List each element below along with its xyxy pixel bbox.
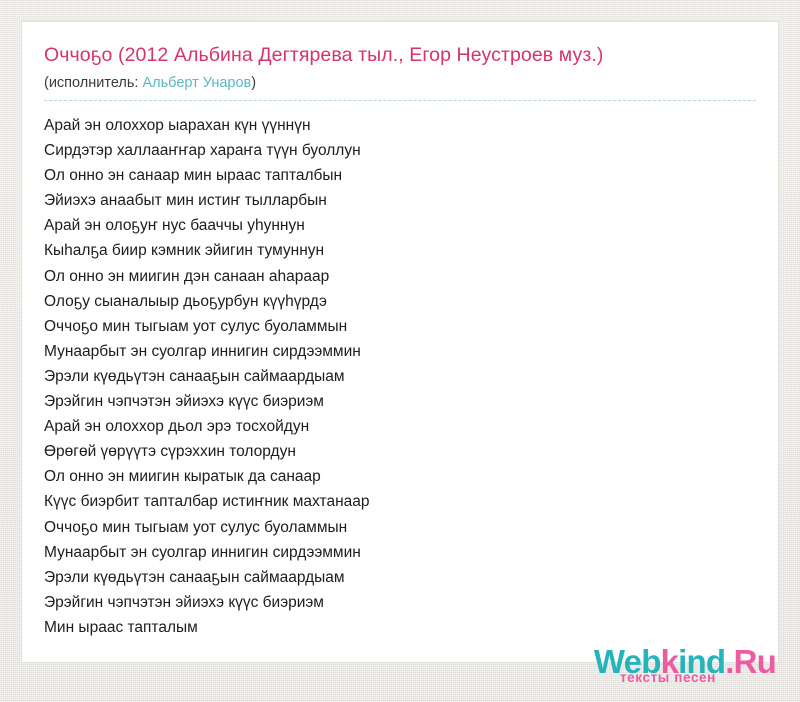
performer-line: (исполнитель: Альберт Унаров) — [44, 73, 756, 93]
lyric-line: Ол онно эн санаар мин ыраас тапталбын — [44, 163, 756, 188]
lyrics-card: Оччоҕо (2012 Альбина Дегтярева тыл., Его… — [22, 22, 778, 662]
lyric-line: Эйиэхэ анаабыт мин истиҥ тылларбын — [44, 188, 756, 213]
lyric-line: Эрэли күөдьүтэн санааҕын саймаардыам — [44, 565, 756, 590]
page-title: Оччоҕо (2012 Альбина Дегтярева тыл., Его… — [44, 42, 756, 68]
lyric-line: Мунаарбыт эн суолгар иннигин сирдээммин — [44, 540, 756, 565]
lyric-line: Оччоҕо мин тыгыам уот сулус буоламмын — [44, 515, 756, 540]
performer-close-paren: ) — [251, 75, 256, 91]
lyric-line: Мунаарбыт эн суолгар иннигин сирдээммин — [44, 339, 756, 364]
lyric-line: Кыһалҕа биир кэмник эйигин тумуннун — [44, 238, 756, 263]
lyric-line: Өрөгөй үөрүүтэ сүрэххин толордун — [44, 439, 756, 464]
lyric-line: Күүс биэрбит тапталбар истиҥник махтанаа… — [44, 489, 756, 514]
performer-link[interactable]: Альберт Унаров — [142, 75, 251, 91]
lyric-line: Эрэйгин чэпчэтэн эйиэхэ күүс биэриэм — [44, 389, 756, 414]
lyric-line: Эрэйгин чэпчэтэн эйиэхэ күүс биэриэм — [44, 590, 756, 615]
lyrics-body: Арай эн олоххор ыарахан күн үүннүн Сирдэ… — [22, 101, 778, 640]
lyric-line: Оччоҕо мин тыгыам уот сулус буоламмын — [44, 314, 756, 339]
logo-text-domain: .Ru — [725, 643, 776, 680]
lyric-line: Эрэли күөдьүтэн санааҕын саймаардыам — [44, 364, 756, 389]
lyric-line: Сирдэтэр халлааҥҥар хараҥа түүн буоллун — [44, 138, 756, 163]
performer-label: (исполнитель: — [44, 75, 138, 91]
lyric-line: Мин ыраас тапталым — [44, 615, 756, 640]
lyric-line: Арай эн олоҕуҥ нус бааччы уһуннун — [44, 213, 756, 238]
lyric-line: Олоҕу сыаналыыр дьоҕурбун күүһүрдэ — [44, 289, 756, 314]
lyric-line: Ол онно эн миигин дэн санаан аһараар — [44, 264, 756, 289]
webkind-logo[interactable]: Webkind.Ru тексты песен — [594, 645, 776, 685]
lyric-line: Арай эн олоххор ыарахан күн үүннүн — [44, 113, 756, 138]
lyric-line: Арай эн олоххор дьол эрэ тосхойдун — [44, 414, 756, 439]
lyric-line: Ол онно эн миигин кыратык да санаар — [44, 464, 756, 489]
song-header: Оччоҕо (2012 Альбина Дегтярева тыл., Его… — [22, 22, 778, 93]
